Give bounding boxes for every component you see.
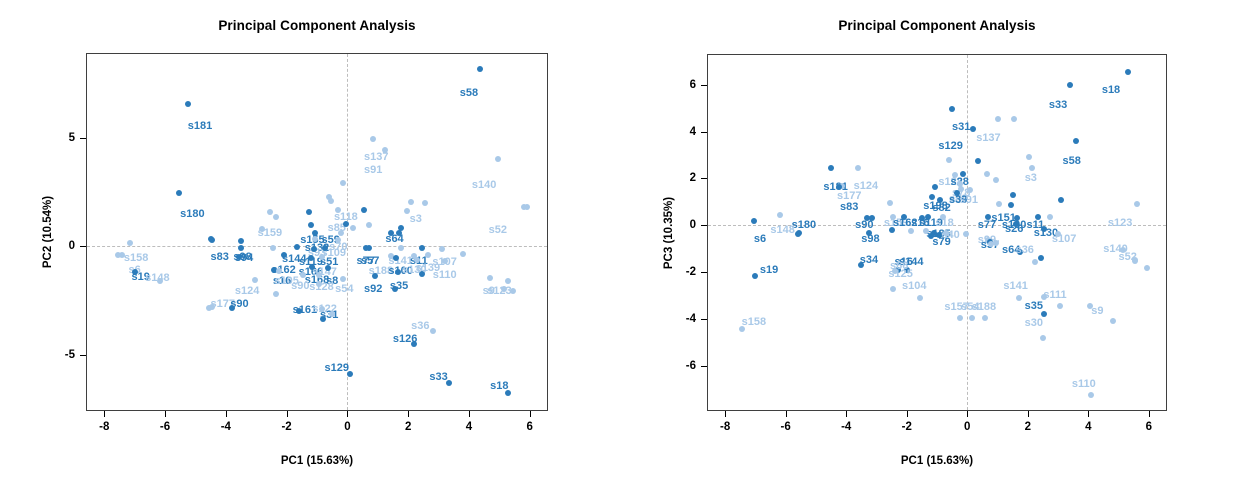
scatter-point <box>1058 197 1064 203</box>
y-axis-title-right: PC3 (10.35%) <box>663 196 675 268</box>
point-label: s90 <box>230 299 248 310</box>
scatter-point <box>1016 295 1022 301</box>
scatter-point <box>338 230 344 236</box>
scatter-point <box>259 226 265 232</box>
scatter-point <box>422 200 428 206</box>
scatter-point <box>1029 165 1035 171</box>
scatter-point <box>408 199 414 205</box>
x-tick <box>725 411 726 417</box>
point-label: s107 <box>1052 234 1076 245</box>
y-tick <box>80 138 86 139</box>
y-tick <box>701 85 707 86</box>
scatter-point <box>442 258 448 264</box>
point-label: s83 <box>840 202 858 213</box>
scatter-point <box>316 281 322 287</box>
gridline-vertical-zero <box>347 54 348 410</box>
x-tick <box>846 411 847 417</box>
x-tick-label: 4 <box>1085 421 1091 433</box>
scatter-point <box>917 295 923 301</box>
scatter-point <box>1057 303 1063 309</box>
point-label: s180 <box>792 220 816 231</box>
chart-title-right: Principal Component Analysis <box>707 18 1167 33</box>
scatter-point <box>1073 138 1079 144</box>
x-tick-label: 6 <box>1146 421 1152 433</box>
y-tick-label: -2 <box>686 266 696 278</box>
scatter-point <box>963 231 969 237</box>
scatter-point <box>777 212 783 218</box>
point-label: s33 <box>429 372 447 383</box>
x-tick-label: -4 <box>221 421 231 433</box>
x-tick-label: -2 <box>902 421 912 433</box>
y-tick-label: 0 <box>690 219 696 231</box>
point-label: s110 <box>433 270 457 281</box>
scatter-point <box>370 136 376 142</box>
scatter-point <box>869 215 875 221</box>
scatter-point <box>889 227 895 233</box>
scatter-point <box>267 209 273 215</box>
y-tick-label: 4 <box>690 126 696 138</box>
scatter-point <box>460 251 466 257</box>
point-label: s91 <box>364 165 382 176</box>
x-tick-label: -8 <box>99 421 109 433</box>
scatter-point <box>521 204 527 210</box>
chart-title-left: Principal Component Analysis <box>86 18 548 33</box>
x-tick-label: -8 <box>720 421 730 433</box>
point-label: s129 <box>325 363 349 374</box>
point-label: s30 <box>1025 318 1043 329</box>
plot-area-right: s18s33s31s129s137s58s3s181s124s128s28s17… <box>708 55 1166 410</box>
scatter-point <box>908 228 914 234</box>
y-tick-label: 5 <box>69 132 75 144</box>
scatter-point <box>322 245 328 251</box>
scatter-point <box>1026 154 1032 160</box>
x-tick-label: 0 <box>344 421 350 433</box>
x-tick-label: 2 <box>405 421 411 433</box>
point-label: s92 <box>364 284 382 295</box>
x-axis-title-right: PC1 (15.63%) <box>901 455 973 467</box>
point-label: s64 <box>385 234 403 245</box>
point-label: s79 <box>932 237 950 248</box>
point-label: s148 <box>145 273 169 284</box>
plot-area-left: s58s181s137s91s140s180s118s3s85s52s159s1… <box>87 54 547 410</box>
y-tick-label: -5 <box>65 349 75 361</box>
y-tick <box>701 272 707 273</box>
y-axis-title-left: PC2 (10.54%) <box>42 196 54 268</box>
scatter-point <box>495 156 501 162</box>
point-label: s36 <box>411 321 429 332</box>
y-tick <box>80 355 86 356</box>
point-label: s18 <box>490 381 508 392</box>
scatter-point <box>751 218 757 224</box>
x-tick-label: 4 <box>466 421 472 433</box>
y-tick-label: -4 <box>686 313 696 325</box>
x-tick <box>104 411 105 417</box>
x-tick-label: 0 <box>964 421 970 433</box>
scatter-point <box>340 276 346 282</box>
point-label: s140 <box>472 180 496 191</box>
point-label: s26 <box>1005 224 1023 235</box>
y-tick <box>701 319 707 320</box>
scatter-point <box>238 238 244 244</box>
point-label: s54 <box>335 284 353 295</box>
scatter-point <box>306 209 312 215</box>
point-label: s126 <box>393 334 417 345</box>
point-label: s34 <box>860 255 878 266</box>
scatter-point <box>176 190 182 196</box>
scatter-point <box>273 291 279 297</box>
scatter-point <box>276 268 282 274</box>
scatter-point <box>1038 255 1044 261</box>
scatter-point <box>185 101 191 107</box>
scatter-point <box>1067 82 1073 88</box>
point-label: s158 <box>124 253 148 264</box>
point-label: s83 <box>211 252 229 263</box>
point-label: s98 <box>861 234 879 245</box>
scatter-point <box>1047 214 1053 220</box>
scatter-point <box>993 177 999 183</box>
scatter-point <box>308 222 314 228</box>
y-tick <box>80 246 86 247</box>
point-label: s52 <box>489 225 507 236</box>
y-tick-label: 6 <box>690 79 696 91</box>
point-label: s137 <box>364 152 388 163</box>
scatter-point <box>335 237 341 243</box>
scatter-point <box>967 187 973 193</box>
scatter-point <box>477 66 483 72</box>
scatter-point <box>505 278 511 284</box>
scatter-point <box>340 180 346 186</box>
scatter-point <box>1011 116 1017 122</box>
scatter-point <box>319 254 325 260</box>
scatter-point <box>439 246 445 252</box>
point-label: s31 <box>952 122 970 133</box>
scatter-point <box>398 245 404 251</box>
x-tick <box>1028 411 1029 417</box>
x-tick-label: -6 <box>160 421 170 433</box>
y-tick-label: 0 <box>69 240 75 252</box>
point-label: s18 <box>1102 85 1120 96</box>
point-label: s35 <box>1025 301 1043 312</box>
y-tick-label: -6 <box>686 360 696 372</box>
x-tick <box>1149 411 1150 417</box>
point-label: s137 <box>976 133 1000 144</box>
y-tick <box>701 366 707 367</box>
point-label: s90 <box>291 281 309 292</box>
y-tick <box>701 178 707 179</box>
scatter-point <box>372 273 378 279</box>
x-tick <box>786 411 787 417</box>
scatter-point <box>208 236 214 242</box>
y-tick <box>701 132 707 133</box>
x-axis-title-left: PC1 (15.63%) <box>281 455 353 467</box>
scatter-point <box>975 158 981 164</box>
x-tick <box>469 411 470 417</box>
x-tick-label: 6 <box>527 421 533 433</box>
scatter-point <box>350 225 356 231</box>
point-label: s9 <box>483 286 495 297</box>
scatter-point <box>969 315 975 321</box>
point-label: s181 <box>188 121 212 132</box>
x-tick <box>287 411 288 417</box>
scatter-point <box>294 244 300 250</box>
scatter-point <box>1134 201 1140 207</box>
scatter-point <box>393 255 399 261</box>
point-label: s91 <box>960 195 978 206</box>
scatter-point <box>430 328 436 334</box>
point-label: s19 <box>760 265 778 276</box>
scatter-point <box>1132 257 1138 263</box>
y-tick-label: 2 <box>690 172 696 184</box>
point-label: s110 <box>1072 379 1096 390</box>
scatter-point <box>425 252 431 258</box>
scatter-point <box>127 240 133 246</box>
point-label: s158 <box>742 317 766 328</box>
scatter-point <box>1032 259 1038 265</box>
scatter-point <box>115 252 121 258</box>
scatter-point <box>887 200 893 206</box>
scatter-point <box>1010 192 1016 198</box>
x-tick-label: -6 <box>781 421 791 433</box>
point-label: s58 <box>460 88 478 99</box>
scatter-point <box>366 222 372 228</box>
scatter-point <box>361 207 367 213</box>
scatter-point <box>855 165 861 171</box>
x-tick <box>347 411 348 417</box>
x-tick <box>408 411 409 417</box>
point-label: s125 <box>888 269 912 280</box>
scatter-point <box>281 252 287 258</box>
scatter-point <box>984 171 990 177</box>
x-tick <box>1088 411 1089 417</box>
scatter-point <box>949 106 955 112</box>
scatter-point <box>957 315 963 321</box>
scatter-point <box>273 214 279 220</box>
scatter-point <box>1008 202 1014 208</box>
x-tick-label: -2 <box>281 421 291 433</box>
scatter-point <box>995 116 1001 122</box>
scatter-point <box>366 245 372 251</box>
scatter-point <box>1110 318 1116 324</box>
scatter-point <box>890 286 896 292</box>
scatter-point <box>982 315 988 321</box>
scatter-point <box>252 277 258 283</box>
scatter-point <box>325 265 331 271</box>
x-tick <box>907 411 908 417</box>
point-label: s90 <box>855 220 873 231</box>
scatter-point <box>1088 392 1094 398</box>
scatter-point <box>308 255 314 261</box>
scatter-point <box>395 269 401 275</box>
x-tick <box>967 411 968 417</box>
scatter-point <box>270 245 276 251</box>
scatter-point <box>419 271 425 277</box>
point-label: s9 <box>1091 306 1103 317</box>
scatter-point <box>836 184 842 190</box>
point-label: s141 <box>1003 281 1027 292</box>
point-label: s82 <box>932 203 950 214</box>
scatter-point <box>510 288 516 294</box>
point-label: s124 <box>235 286 259 297</box>
point-label: s104 <box>902 281 926 292</box>
point-label: s36 <box>1016 245 1034 256</box>
scatter-point <box>828 165 834 171</box>
x-tick-label: -4 <box>841 421 851 433</box>
point-label: s129 <box>938 141 962 152</box>
scatter-point <box>795 231 801 237</box>
pca-figure: Principal Component Analysis s58s181s137… <box>0 0 1238 500</box>
point-label: s3 <box>410 214 422 225</box>
point-label: s33 <box>1049 100 1067 111</box>
point-label: s6 <box>754 234 766 245</box>
y-tick <box>701 225 707 226</box>
point-label: s3 <box>1025 173 1037 184</box>
point-label: s148 <box>770 225 794 236</box>
point-label: s128 <box>309 282 333 293</box>
scatter-point <box>206 305 212 311</box>
scatter-point <box>382 147 388 153</box>
x-tick <box>530 411 531 417</box>
point-label: s123 <box>1108 218 1132 229</box>
point-label: s180 <box>180 209 204 220</box>
scatter-point <box>487 275 493 281</box>
x-tick-label: 2 <box>1025 421 1031 433</box>
scatter-point <box>932 184 938 190</box>
scatter-point <box>996 201 1002 207</box>
pca-panel-right: Principal Component Analysis s18s33s31s1… <box>620 0 1238 500</box>
scatter-point <box>1144 265 1150 271</box>
scatter-point <box>928 233 934 239</box>
scatter-point <box>419 245 425 251</box>
scatter-point <box>1040 335 1046 341</box>
point-label: s188 <box>972 302 996 313</box>
x-tick <box>165 411 166 417</box>
scatter-point <box>946 157 952 163</box>
point-label: s58 <box>1062 156 1080 167</box>
pca-panel-left: Principal Component Analysis s58s181s137… <box>0 0 620 500</box>
x-tick <box>226 411 227 417</box>
scatter-point <box>316 272 322 278</box>
scatter-point <box>1125 69 1131 75</box>
scatter-point <box>752 273 758 279</box>
